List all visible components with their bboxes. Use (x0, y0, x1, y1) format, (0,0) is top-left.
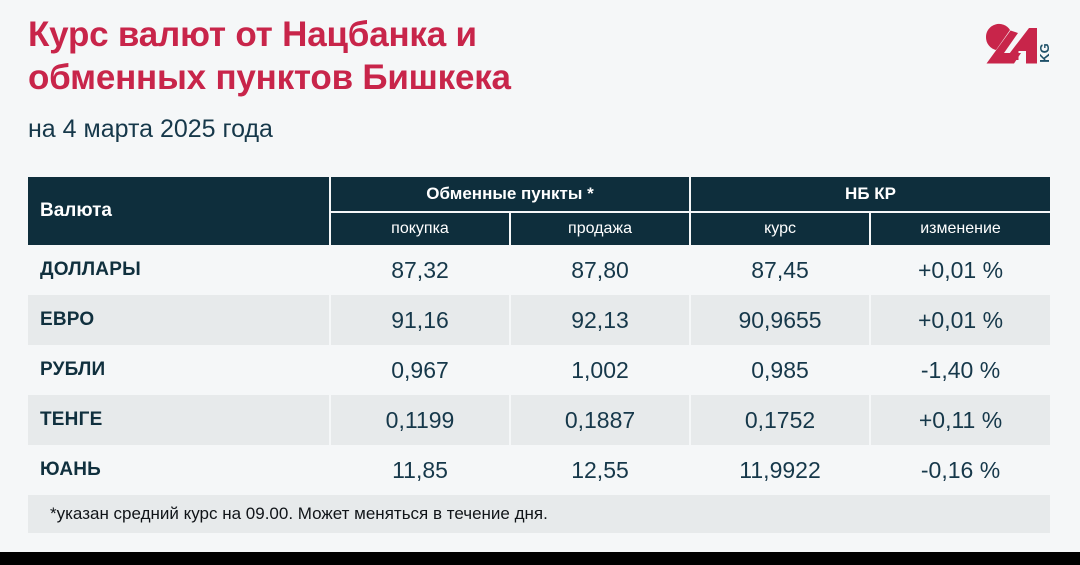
cell-currency: ЮАНЬ (28, 445, 330, 495)
cell-rate: 90,9655 (690, 295, 870, 345)
cell-buy: 11,85 (330, 445, 510, 495)
cell-rate: 0,1752 (690, 395, 870, 445)
cell-currency: ЕВРО (28, 295, 330, 345)
page-title: Курс валют от Нацбанка и обменных пункто… (28, 14, 968, 99)
column-header-rate: курс (690, 212, 870, 245)
table-foot: *указан средний курс на 09.00. Может мен… (28, 495, 1050, 533)
header-row-groups: Валюта Обменные пункты * НБ КР (28, 177, 1050, 212)
cell-rate: 11,9922 (690, 445, 870, 495)
table-head: Валюта Обменные пункты * НБ КР покупка п… (28, 177, 1050, 245)
cell-sell: 92,13 (510, 295, 690, 345)
cell-buy: 0,1199 (330, 395, 510, 445)
cell-currency: ДОЛЛАРЫ (28, 245, 330, 295)
infographic-page: Курс валют от Нацбанка и обменных пункто… (0, 0, 1080, 565)
cell-sell: 12,55 (510, 445, 690, 495)
column-header-buy: покупка (330, 212, 510, 245)
table-row: ДОЛЛАРЫ 87,32 87,80 87,45 +0,01 % (28, 245, 1050, 295)
table-row: ТЕНГЕ 0,1199 0,1887 0,1752 +0,11 % (28, 395, 1050, 445)
cell-rate: 87,45 (690, 245, 870, 295)
column-group-exchange-points: Обменные пункты * (330, 177, 690, 212)
cell-change: -1,40 % (870, 345, 1050, 395)
column-header-change: изменение (870, 212, 1050, 245)
table-footnote: *указан средний курс на 09.00. Может мен… (28, 495, 1050, 533)
cell-buy: 91,16 (330, 295, 510, 345)
cell-sell: 87,80 (510, 245, 690, 295)
table-row: ЕВРО 91,16 92,13 90,9655 +0,01 % (28, 295, 1050, 345)
cell-change: +0,01 % (870, 295, 1050, 345)
cell-sell: 1,002 (510, 345, 690, 395)
rates-table: Валюта Обменные пункты * НБ КР покупка п… (28, 177, 1050, 533)
cell-sell: 0,1887 (510, 395, 690, 445)
cell-buy: 87,32 (330, 245, 510, 295)
footnote-row: *указан средний курс на 09.00. Может мен… (28, 495, 1050, 533)
page-subtitle: на 4 марта 2025 года (28, 114, 968, 144)
cell-change: +0,01 % (870, 245, 1050, 295)
table-row: ЮАНЬ 11,85 12,55 11,9922 -0,16 % (28, 445, 1050, 495)
logo-24kg: KG (980, 20, 1058, 78)
table-row: РУБЛИ 0,967 1,002 0,985 -1,40 % (28, 345, 1050, 395)
rates-table-wrap: Валюта Обменные пункты * НБ КР покупка п… (28, 177, 1050, 533)
cell-currency: РУБЛИ (28, 345, 330, 395)
column-group-nbkr: НБ КР (690, 177, 1050, 212)
cell-change: -0,16 % (870, 445, 1050, 495)
bottom-bar (0, 552, 1080, 565)
table-body: ДОЛЛАРЫ 87,32 87,80 87,45 +0,01 % ЕВРО 9… (28, 245, 1050, 495)
header-block: Курс валют от Нацбанка и обменных пункто… (28, 14, 968, 144)
cell-rate: 0,985 (690, 345, 870, 395)
column-header-sell: продажа (510, 212, 690, 245)
logo-kg-text: KG (1037, 43, 1052, 63)
cell-currency: ТЕНГЕ (28, 395, 330, 445)
cell-change: +0,11 % (870, 395, 1050, 445)
column-header-currency: Валюта (28, 177, 330, 245)
cell-buy: 0,967 (330, 345, 510, 395)
